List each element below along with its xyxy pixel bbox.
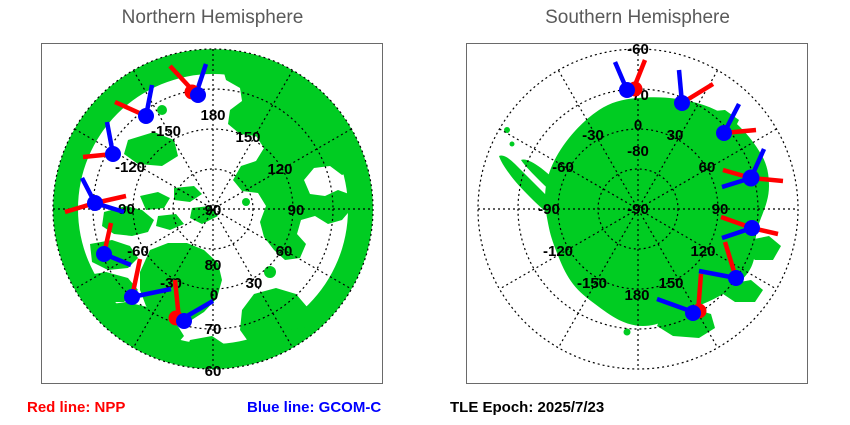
svg-text:-150: -150 (577, 275, 607, 292)
satellite-marker[interactable] (96, 246, 112, 262)
satellite-marker[interactable] (87, 195, 103, 211)
svg-text:-60: -60 (127, 243, 149, 260)
svg-text:70: 70 (205, 321, 222, 338)
satellite-marker[interactable] (728, 270, 744, 286)
satellite-marker[interactable] (124, 289, 140, 305)
svg-text:30: 30 (667, 127, 684, 144)
svg-text:180: 180 (624, 287, 649, 304)
svg-text:-60: -60 (627, 44, 649, 58)
svg-text:150: 150 (235, 129, 260, 146)
legend-tle-epoch: TLE Epoch: 2025/7/23 (450, 399, 604, 417)
southern-polar-plot[interactable]: 0 30 60 90 120 150 180 -150 -120 -90 -60… (466, 43, 808, 384)
svg-text:60: 60 (276, 243, 293, 260)
legend-gcomc: Blue line: GCOM-C (247, 399, 381, 417)
screenshot-root: Northern Hemisphere (0, 0, 850, 425)
svg-text:120: 120 (267, 161, 292, 178)
satellite-marker[interactable] (176, 313, 192, 329)
panel-southern-hemisphere: Southern Hemisphere (425, 0, 850, 425)
svg-text:90: 90 (205, 202, 222, 219)
svg-text:60: 60 (205, 363, 222, 380)
southern-hemisphere-title: Southern Hemisphere (425, 6, 850, 30)
satellite-marker[interactable] (743, 170, 760, 187)
satellite-marker[interactable] (105, 146, 121, 162)
south-speck-3 (510, 142, 515, 147)
southern-polar-svg: 0 30 60 90 120 150 180 -150 -120 -90 -60… (467, 44, 807, 383)
northern-hemisphere-title: Northern Hemisphere (0, 6, 425, 30)
svg-text:90: 90 (288, 202, 305, 219)
svg-text:-90: -90 (538, 201, 560, 218)
north-speck-3 (264, 266, 276, 278)
north-speck-2 (242, 198, 250, 206)
panel-northern-hemisphere: Northern Hemisphere (0, 0, 425, 425)
svg-text:60: 60 (699, 159, 716, 176)
svg-text:-80: -80 (627, 143, 649, 160)
svg-text:-120: -120 (543, 243, 573, 260)
north-speck-1 (157, 105, 167, 115)
northern-polar-plot[interactable]: 180 -150 -120 -90 -60 -30 0 30 60 90 120… (41, 43, 383, 384)
svg-text:150: 150 (658, 275, 683, 292)
svg-text:120: 120 (690, 243, 715, 260)
satellite-marker[interactable] (190, 87, 206, 103)
south-speck-4 (624, 329, 631, 336)
satellite-marker[interactable] (744, 220, 760, 236)
svg-text:-90: -90 (627, 201, 649, 218)
svg-text:80: 80 (205, 257, 222, 274)
satellite-marker[interactable] (685, 305, 701, 321)
satellite-marker[interactable] (619, 82, 635, 98)
legend-npp: Red line: NPP (27, 399, 125, 417)
satellite-marker[interactable] (716, 125, 732, 141)
svg-text:0: 0 (634, 117, 642, 134)
svg-text:90: 90 (712, 201, 729, 218)
svg-text:-150: -150 (151, 123, 181, 140)
svg-text:180: 180 (200, 107, 225, 124)
svg-text:-60: -60 (552, 159, 574, 176)
northern-polar-svg: 180 -150 -120 -90 -60 -30 0 30 60 90 120… (42, 44, 382, 383)
satellite-marker[interactable] (138, 108, 154, 124)
satellite-marker[interactable] (674, 95, 690, 111)
svg-text:-30: -30 (582, 127, 604, 144)
svg-text:-120: -120 (115, 159, 145, 176)
svg-text:30: 30 (246, 275, 263, 292)
